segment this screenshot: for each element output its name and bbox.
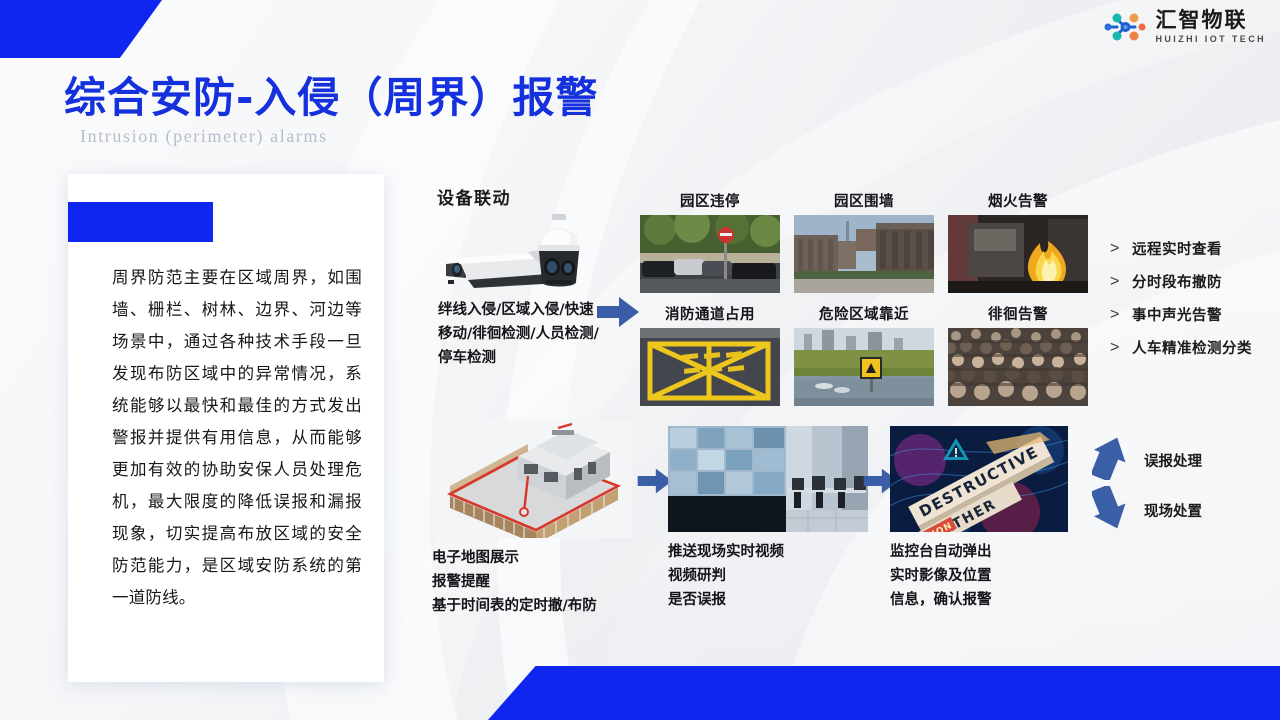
- flow-image-3d-site-model: [432, 420, 632, 538]
- flow-image-weather-alert-popup: DESTRUCTIVE WEATHER CAUTION: [890, 426, 1068, 532]
- tile-caption: 园区围墙: [794, 190, 934, 211]
- feature-label: 人车精准检测分类: [1132, 337, 1252, 358]
- arrow-down-right-icon: [1092, 486, 1138, 530]
- page-title: 综合安防-入侵（周界）报警: [64, 64, 598, 125]
- flow-step[interactable]: 电子地图展示 报警提醒 基于时间表的定时撤/布防: [432, 420, 632, 618]
- camera-devices-illustration: [428, 212, 618, 302]
- tile-caption: 徘徊告警: [948, 303, 1088, 324]
- feature-list: > 远程实时查看 > 分时段布撤防 > 事中声光告警 > 人车精准检测分类: [1110, 232, 1280, 364]
- feature-label: 事中声光告警: [1132, 304, 1222, 325]
- feature-list-item[interactable]: > 远程实时查看: [1110, 232, 1280, 265]
- brand-logo: 汇智物联 HUIZHI IOT TECH: [1102, 10, 1267, 44]
- flow-caption: 电子地图展示 报警提醒 基于时间表的定时撤/布防: [432, 546, 632, 618]
- arrow-right-icon-1: [595, 295, 641, 329]
- chevron-right-icon: >: [1110, 339, 1132, 357]
- chevron-right-icon: >: [1110, 240, 1132, 258]
- page-subtitle: Intrusion (perimeter) alarms: [80, 126, 328, 147]
- arrow-up-right-icon: [1092, 436, 1138, 480]
- molecule-network-icon: [1102, 10, 1148, 44]
- top-left-accent-shape: [0, 0, 162, 58]
- tile-image-riverbank-hazard-sign: [794, 328, 934, 406]
- flow-image-control-room: [668, 426, 868, 532]
- tile-item[interactable]: 消防通道占用: [640, 303, 780, 406]
- tile-image-fire-lane-markings: [640, 328, 780, 406]
- tile-item[interactable]: 徘徊告警: [948, 303, 1088, 406]
- tile-item[interactable]: 烟火告警: [948, 190, 1088, 293]
- outcome-label: 误报处理: [1144, 450, 1202, 471]
- tile-image-dense-crowd: [948, 328, 1088, 406]
- tile-item[interactable]: 园区违停: [640, 190, 780, 293]
- flow-caption: 推送现场实时视频 视频研判 是否误报: [668, 540, 868, 612]
- tile-item[interactable]: 危险区域靠近: [794, 303, 934, 406]
- tile-image-street-parked-cars: [640, 215, 780, 293]
- flow-caption: 监控台自动弹出 实时影像及位置 信息，确认报警: [890, 540, 1090, 612]
- chevron-right-icon: >: [1110, 306, 1132, 324]
- card-paragraph: 周界防范主要在区域周界，如围墙、栅栏、树林、边界、河边等场景中，通过各种技术手段…: [112, 262, 362, 614]
- feature-label: 分时段布撤防: [1132, 271, 1222, 292]
- outcome-label: 现场处置: [1144, 500, 1202, 521]
- diagram-section-title: 设备联动: [437, 184, 511, 209]
- tile-caption: 烟火告警: [948, 190, 1088, 211]
- feature-list-item[interactable]: > 人车精准检测分类: [1110, 331, 1280, 364]
- feature-list-item[interactable]: > 分时段布撤防: [1110, 265, 1280, 298]
- tile-item[interactable]: 园区围墙: [794, 190, 934, 293]
- description-card: 周界防范主要在区域周界，如围墙、栅栏、树林、边界、河边等场景中，通过各种技术手段…: [68, 174, 384, 682]
- tile-image-factory-perimeter-wall: [794, 215, 934, 293]
- flow-step[interactable]: DESTRUCTIVE WEATHER CAUTION: [890, 426, 1090, 612]
- slide-canvas: 汇智物联 HUIZHI IOT TECH 综合安防-入侵（周界）报警 Intru…: [0, 0, 1280, 720]
- camera-capabilities-text: 绊线入侵/区域入侵/快速移动/徘徊检测/人员检测/停车检测: [438, 298, 608, 370]
- tile-caption: 危险区域靠近: [794, 303, 934, 324]
- tile-image-fire-flame: [948, 215, 1088, 293]
- feature-label: 远程实时查看: [1132, 238, 1222, 259]
- response-flow: 电子地图展示 报警提醒 基于时间表的定时撤/布防: [420, 420, 1280, 635]
- alarm-scenario-tiles: 园区违停: [640, 190, 1088, 405]
- ptz-dome-camera-icon: [538, 214, 580, 287]
- tile-caption: 园区违停: [640, 190, 780, 211]
- tile-caption: 消防通道占用: [640, 303, 780, 324]
- card-badge: [68, 202, 213, 242]
- solution-diagram: 设备联动: [410, 170, 1280, 640]
- feature-list-item[interactable]: > 事中声光告警: [1110, 298, 1280, 331]
- flow-step[interactable]: 推送现场实时视频 视频研判 是否误报: [668, 426, 868, 612]
- chevron-right-icon: >: [1110, 273, 1132, 291]
- logo-brand-cn: 汇智物联: [1156, 10, 1267, 31]
- logo-brand-en: HUIZHI IOT TECH: [1156, 35, 1267, 44]
- bottom-accent-bar: [488, 666, 1280, 720]
